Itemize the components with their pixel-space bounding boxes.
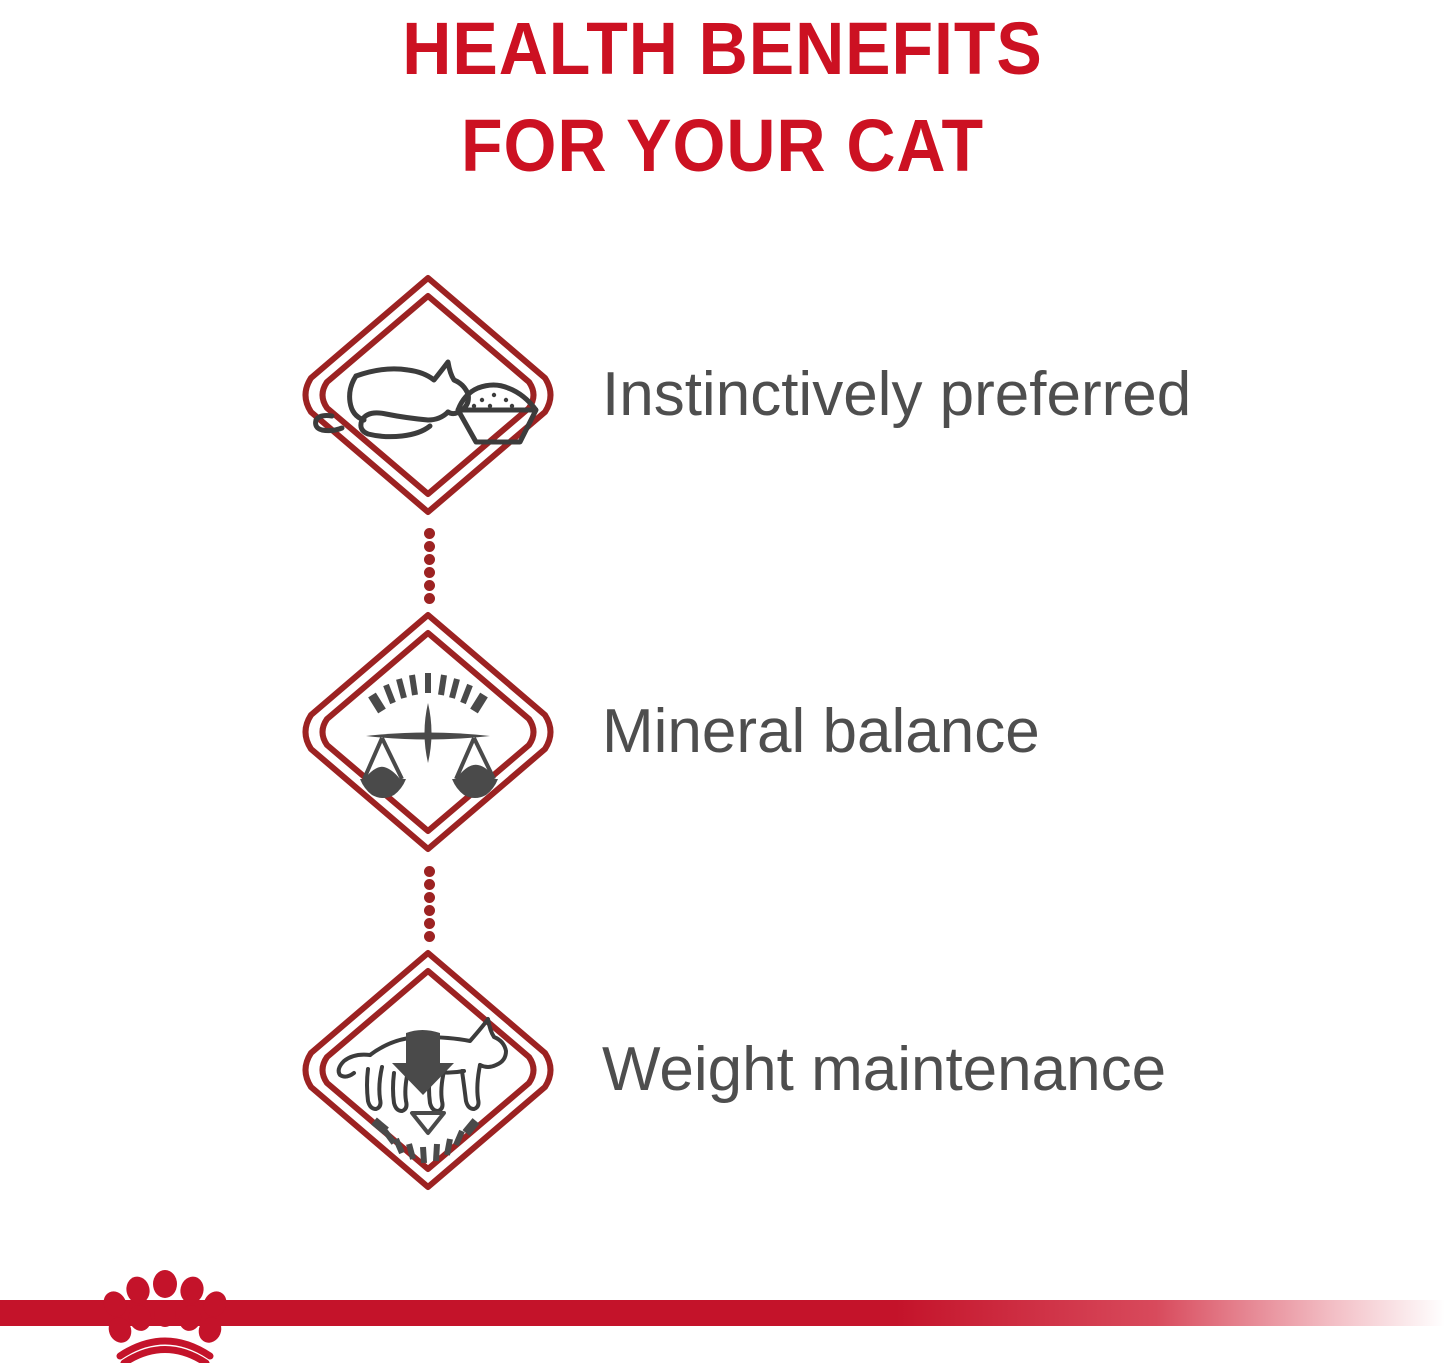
title-line-1: HEALTH BENEFITS: [58, 0, 1387, 97]
connector-dot: [424, 866, 435, 877]
connector-dot: [424, 931, 435, 942]
connector-dot: [424, 905, 435, 916]
benefit-label: Mineral balance: [558, 696, 1445, 768]
connector-dot: [424, 580, 435, 591]
connector-dot: [424, 528, 435, 539]
cat-weight-scale-icon: [298, 945, 558, 1195]
benefit-item-instinctively-preferred: Instinctively preferred: [0, 270, 1445, 520]
connector-dot: [424, 554, 435, 565]
connector-dot: [424, 541, 435, 552]
connector-dot: [424, 593, 435, 604]
balance-scale-icon: [298, 607, 558, 857]
connector-dot: [424, 879, 435, 890]
benefit-label: Instinctively preferred: [558, 359, 1445, 431]
connector-dot: [424, 918, 435, 929]
cat-eating-from-bowl-icon: [298, 270, 558, 520]
title-line-2: FOR YOUR CAT: [58, 97, 1387, 194]
connector-dot: [424, 892, 435, 903]
royal-canin-crown-logo: [100, 1270, 230, 1363]
benefit-item-mineral-balance: Mineral balance: [0, 607, 1445, 857]
health-benefits-list: Instinctively preferred: [0, 270, 1445, 1210]
connector-dots-1: [421, 528, 437, 604]
page-title: HEALTH BENEFITS FOR YOUR CAT: [0, 0, 1445, 194]
connector-dot: [424, 567, 435, 578]
connector-dots-2: [421, 866, 437, 942]
benefit-item-weight-maintenance: Weight maintenance: [0, 945, 1445, 1195]
benefit-label: Weight maintenance: [558, 1034, 1445, 1106]
